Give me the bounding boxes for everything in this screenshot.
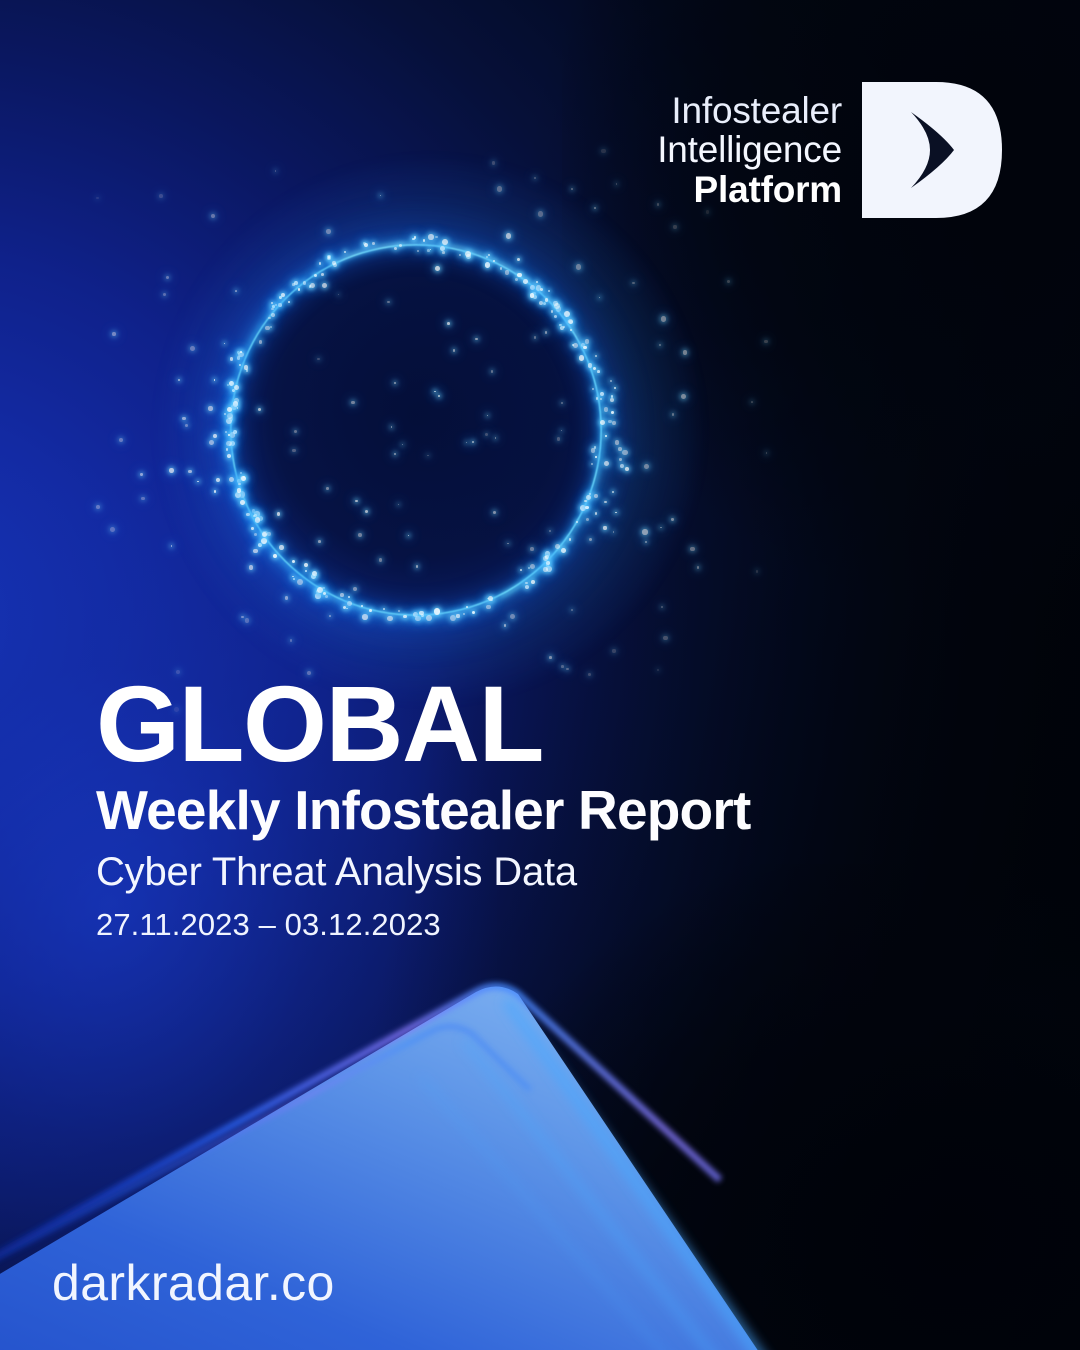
sphere-particle [262,532,267,537]
sphere-particle [497,186,502,191]
sphere-particle [197,481,198,482]
sphere-particle [486,605,491,610]
sphere-particle-inner [561,430,562,431]
sphere-particle [235,290,237,292]
brand-line-intelligence: Intelligence [657,130,842,170]
sphere-particle [608,420,612,424]
sphere-particle-inner [394,453,396,455]
sphere-particle [585,506,588,509]
darkradar-d-arrow-logo-icon [856,78,1008,222]
sphere-particle [505,270,510,275]
sphere-particle [237,407,239,409]
sphere-particle [285,596,288,599]
sphere-particle [566,668,569,671]
sphere-particle [697,566,700,569]
sphere-particle [538,211,543,216]
sphere-particle [618,447,622,451]
sphere-particle [246,513,249,516]
sphere-particle [271,313,275,317]
sphere-particle [615,512,617,514]
sphere-particle [430,249,432,251]
sphere-particle [321,273,324,276]
sphere-particle [683,350,688,355]
sphere-particle [594,207,596,209]
sphere-particle [585,339,589,343]
sphere-particle [546,561,550,565]
sphere-particle [525,585,529,589]
sphere-particle [517,258,520,261]
sphere-particle [265,326,269,330]
sphere-particle [270,326,272,328]
sphere-particle [619,458,621,460]
sphere-particle [188,470,191,473]
sphere-particle-inner [491,370,493,372]
sphere-particle [344,251,347,254]
sphere-particle [185,424,189,428]
sphere-particle-inner [434,391,436,393]
sphere-particle [756,570,759,573]
sphere-particle [234,385,240,391]
sphere-particle [625,467,629,471]
sphere-particle [353,587,357,591]
sphere-particle [383,608,385,610]
sphere-particle [96,197,99,200]
sphere-particle [589,538,592,541]
sphere-particle [764,340,767,343]
sphere-particle [510,614,515,619]
brand-logo-text: Infostealer Intelligence Platform [657,91,856,210]
sphere-particle [279,545,284,550]
report-tagline: Cyber Threat Analysis Data [96,851,876,893]
sphere-particle [525,582,528,585]
sphere-particle-inner [294,430,297,433]
sphere-particle [614,387,616,389]
sphere-particle [214,379,216,381]
sphere-particle [601,149,605,153]
sphere-particle [681,394,686,399]
sphere-particle-inner [338,294,339,295]
sphere-particle [245,618,250,623]
sphere-particle [224,413,226,415]
sphere-particle [472,611,475,614]
sphere-particle [605,435,607,437]
glowing-particle-sphere [230,230,630,630]
sphere-particle-inner [485,433,489,437]
sphere-particle [322,283,327,288]
sphere-particle [414,236,417,239]
sphere-particle [504,624,507,627]
sphere-particle-inner [379,558,383,562]
sphere-particle [599,297,601,299]
sphere-particle [253,549,257,553]
sphere-particle-inner [398,504,399,505]
sphere-particle [169,468,174,473]
sphere-particle [292,560,295,563]
sphere-particle [303,281,306,284]
sphere-particle [258,543,262,547]
sphere-particle-inner [438,395,440,397]
sphere-particle [540,288,543,291]
sphere-particle [163,293,166,296]
sphere-particle [488,254,490,256]
sphere-particle [319,262,322,265]
sphere-particle [292,283,295,286]
sphere-particle [178,379,180,381]
sphere-particle-inner [394,382,396,384]
sphere-particle [140,473,142,475]
sphere-particle [591,463,593,465]
sphere-particle [554,315,557,318]
sphere-particle [500,267,503,270]
sphere-particle [530,564,535,569]
sphere-particle [326,229,331,234]
sphere-particles [90,140,770,720]
sphere-particle [611,411,614,414]
sphere-particle [561,665,564,668]
sphere-particle [249,565,254,570]
sphere-particle [251,527,254,530]
sphere-particle-inner [317,358,319,360]
sphere-particle [329,615,331,617]
sphere-particle [591,448,595,452]
sphere-particle [230,357,234,361]
sphere-particle [597,370,600,373]
sphere-particle [96,505,100,509]
sphere-particle [506,233,511,238]
sphere-particle [766,452,768,454]
sphere-particle [240,500,245,505]
sphere-particle [241,616,244,619]
sphere-particle [660,527,661,528]
sphere-particle [141,497,144,500]
sphere-particle [531,580,535,584]
sphere-particle [340,593,344,597]
sphere-particle [292,576,294,578]
report-subtitle: Weekly Infostealer Report [96,782,876,839]
sphere-particle [293,578,295,580]
sphere-particle [224,343,225,344]
sphere-particle-inner [557,437,561,441]
sphere-particle-inner [549,530,551,532]
sphere-particle [325,595,328,598]
sphere-particle [571,188,573,190]
sphere-particle-inner [427,455,428,456]
sphere-particle [690,547,694,551]
sphere-particle [314,274,317,277]
sphere-particle-inner [507,543,509,545]
sphere-particle-inner [355,500,357,502]
sphere-particle [751,401,753,403]
sphere-particle [555,544,560,549]
sphere-particle [576,264,581,269]
sphere-particle-inner [475,338,477,340]
sphere-particle [278,303,281,306]
sphere-particle [435,266,440,271]
sphere-particle [610,398,614,402]
sphere-particle [213,434,217,438]
sphere-particle [315,593,321,599]
sphere-particle [290,639,293,642]
sphere-particle [564,311,570,317]
sphere-particle-inner [561,402,563,404]
sphere-particle [442,239,448,245]
sphere-particle [551,310,553,312]
sphere-particle [110,527,115,532]
sphere-particle [727,280,730,283]
sphere-particle [459,254,461,256]
sphere-particle [548,290,550,292]
sphere-particle [268,317,271,320]
sphere-particle [415,616,421,622]
sphere-particle [434,608,440,614]
sphere-particle [361,605,363,607]
sphere-particle [570,329,572,331]
sphere-particle [237,488,241,492]
sphere-particle [613,531,615,533]
sphere-particle [595,456,597,458]
sphere-particle [233,401,238,406]
sphere-particle [227,407,232,412]
sphere-particle [612,421,615,424]
sphere-particle [435,236,437,238]
sphere-particle-inner [365,510,368,513]
sphere-particle [399,244,403,248]
sphere-particle [661,316,666,321]
sphere-particle-inner [408,535,409,536]
sphere-particle [661,606,663,608]
sphere-particle [517,273,521,277]
sphere-particle [275,170,277,172]
sphere-particle-inner [487,415,488,416]
sphere-particle [403,615,406,618]
sphere-particle [211,214,215,218]
sphere-particle [644,464,649,469]
sphere-particle [305,570,308,573]
sphere-particle [229,381,234,386]
sphere-particle [465,251,471,257]
sphere-particle [442,251,445,254]
sphere-particle [673,225,676,228]
sphere-particle [523,279,528,284]
sphere-particle [593,367,596,370]
sphere-particle [493,260,495,262]
sphere-particle-inner [530,547,534,551]
sphere-particle-inner [416,565,419,568]
sphere-particle [594,494,598,498]
sphere-particle [190,346,195,351]
sphere-particle [659,344,661,346]
sphere-particle [596,397,599,400]
sphere-particle-inner [387,301,389,303]
sphere-particle [230,432,236,438]
sphere-particle [543,567,547,571]
sphere-particle [208,406,212,410]
page-title: GLOBAL [96,672,876,776]
sphere-particle [612,491,614,493]
report-date-range: 27.11.2023 – 03.12.2023 [96,909,876,942]
sphere-particle [209,440,214,445]
sphere-particle [486,256,488,258]
sphere-particle [543,302,546,305]
sphere-particle [576,521,578,523]
sphere-particle-inner [318,540,321,543]
sphere-particle [615,440,619,444]
sphere-particle [595,355,597,357]
sphere-particle [671,518,673,520]
sphere-particle [645,541,647,543]
sphere-particle-inner [351,401,354,404]
sphere-particle [362,614,368,620]
sphere-particle [632,282,634,284]
sphere-particle [310,283,315,288]
sphere-particle-inner [466,442,467,443]
sphere-particle [536,281,539,284]
sphere-particle [583,346,586,349]
sphere-particle [238,483,240,485]
sphere-particle [255,517,261,523]
sphere-particle [545,298,548,301]
sphere-particle [492,161,496,165]
sphere-particle-inner [493,511,496,514]
sphere-particle [426,615,432,621]
sphere-particle [549,656,552,659]
sphere-particle [259,340,262,343]
sphere-particle [561,548,566,553]
sphere-particle [672,413,675,416]
sphere-particle [620,464,624,468]
sphere-particle [515,278,518,281]
sphere-particle [214,490,216,492]
sphere-particle [663,636,667,640]
sphere-particle-inner [495,437,496,438]
sphere-particle [369,609,372,612]
website-url: darkradar.co [52,1254,335,1312]
sphere-particle [530,285,536,291]
sphere-particle [267,532,271,536]
sphere-particle [604,407,609,412]
sphere-particle [657,669,659,671]
brand-line-infostealer: Infostealer [657,91,842,131]
sphere-particle [166,276,169,279]
sphere-particle [332,261,336,265]
sphere-particle [394,247,397,250]
sphere-particle [463,613,465,615]
sphere-particle [380,195,381,196]
sphere-particle [159,194,163,198]
sphere-particle [271,308,274,311]
sphere-particle [216,478,221,483]
sphere-particle [622,450,627,455]
sphere-particle [112,332,116,336]
sphere-particle [171,545,173,547]
sphere-particle [298,288,300,290]
sphere-particle-inner [472,441,474,443]
sphere-particle [261,538,267,544]
sphere-particle [543,556,548,561]
sphere-particle [571,609,573,611]
sphere-particle [271,302,272,303]
sphere-particle [485,262,491,268]
sphere-particle [600,420,606,426]
sphere-particle [595,512,597,514]
sphere-particle [604,501,606,503]
sphere-particle [428,234,433,239]
sphere-particle [450,615,456,621]
sphere-particle-inner [402,444,404,446]
sphere-particle-inner [292,449,296,453]
sphere-particle [398,610,400,612]
sphere-particle [273,554,277,558]
sphere-particle [417,250,419,252]
sphere-particle [229,477,234,482]
sphere-particle [586,518,589,521]
sphere-particle [534,177,536,179]
sphere-particle [182,417,185,420]
sphere-particle [642,529,647,534]
sphere-particle [569,538,571,540]
sphere-particle [346,608,348,610]
sphere-particle [573,343,578,348]
sphere-particle [600,398,602,400]
sphere-particle [466,606,468,608]
sphere-particle [603,526,606,529]
sphere-particle [364,243,368,247]
sphere-particle [275,304,277,306]
sphere-particle [612,649,615,652]
sphere-particle [297,579,303,585]
sphere-particle-inner [453,349,455,351]
sphere-particle [225,431,227,433]
sphere-particle-inner [258,408,261,411]
sphere-particle [317,587,323,593]
sphere-particle [616,183,618,185]
sphere-particle [604,461,609,466]
sphere-particle [610,380,612,382]
sphere-particle [588,363,593,368]
sphere-particle-inner [391,426,392,427]
sphere-particle-inner [277,512,281,516]
sphere-particle [239,364,241,366]
sphere-particle-inner [534,336,536,338]
sphere-particle-inner [326,487,329,490]
sphere-particle [563,326,565,328]
sphere-particle [316,575,317,576]
sphere-particle [456,614,459,617]
sphere-particle [227,454,231,458]
sphere-particle [240,472,242,474]
title-block: GLOBAL Weekly Infostealer Report Cyber T… [96,672,876,942]
sphere-particle [423,239,425,241]
sphere-particle [530,293,534,297]
brand-logo: Infostealer Intelligence Platform [657,78,1008,222]
sphere-particle-inner [545,331,547,333]
sphere-particle [281,293,285,297]
sphere-particle [387,616,392,621]
sphere-particle-inner [358,533,362,537]
sphere-particle [254,533,257,536]
sphere-particle [347,601,352,606]
sphere-particle [520,569,522,571]
sphere-particle [226,448,228,450]
poster-canvas: Infostealer Intelligence Platform GLOBAL… [0,0,1080,1350]
sphere-particle [419,611,423,615]
sphere-particle [288,301,290,303]
sphere-particle [119,438,123,442]
sphere-particle [348,596,350,598]
sphere-particle [600,392,604,396]
sphere-particle [241,476,246,481]
sphere-particle-inner [447,322,450,325]
